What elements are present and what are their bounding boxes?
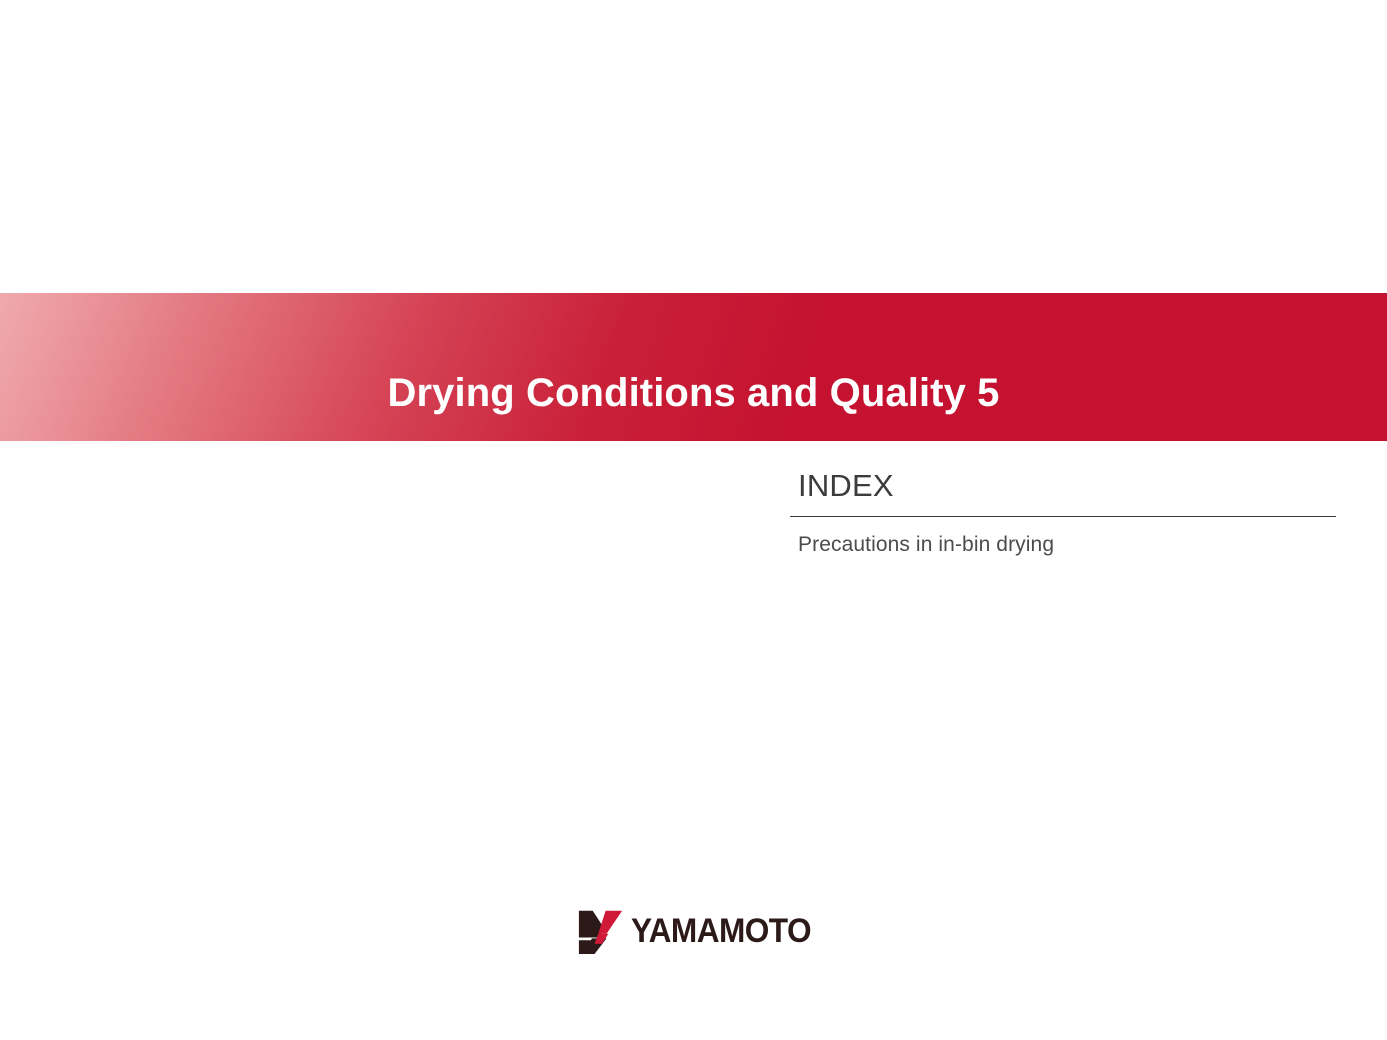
logo-wordmark: YAMAMOTO [631,914,811,948]
page-title: Drying Conditions and Quality 5 [0,320,1387,468]
brand-logo: YAMAMOTO [578,906,810,956]
index-item-label: Precautions in in-bin drying [790,531,1336,558]
title-banner: Drying Conditions and Quality 5 [0,293,1387,441]
slide-canvas: Drying Conditions and Quality 5 INDEX Pr… [0,0,1387,1040]
index-block: INDEX Precautions in in-bin drying [790,468,1336,558]
index-divider [790,516,1336,517]
yamamoto-y-mark-icon [578,908,624,954]
index-heading: INDEX [790,468,1336,505]
